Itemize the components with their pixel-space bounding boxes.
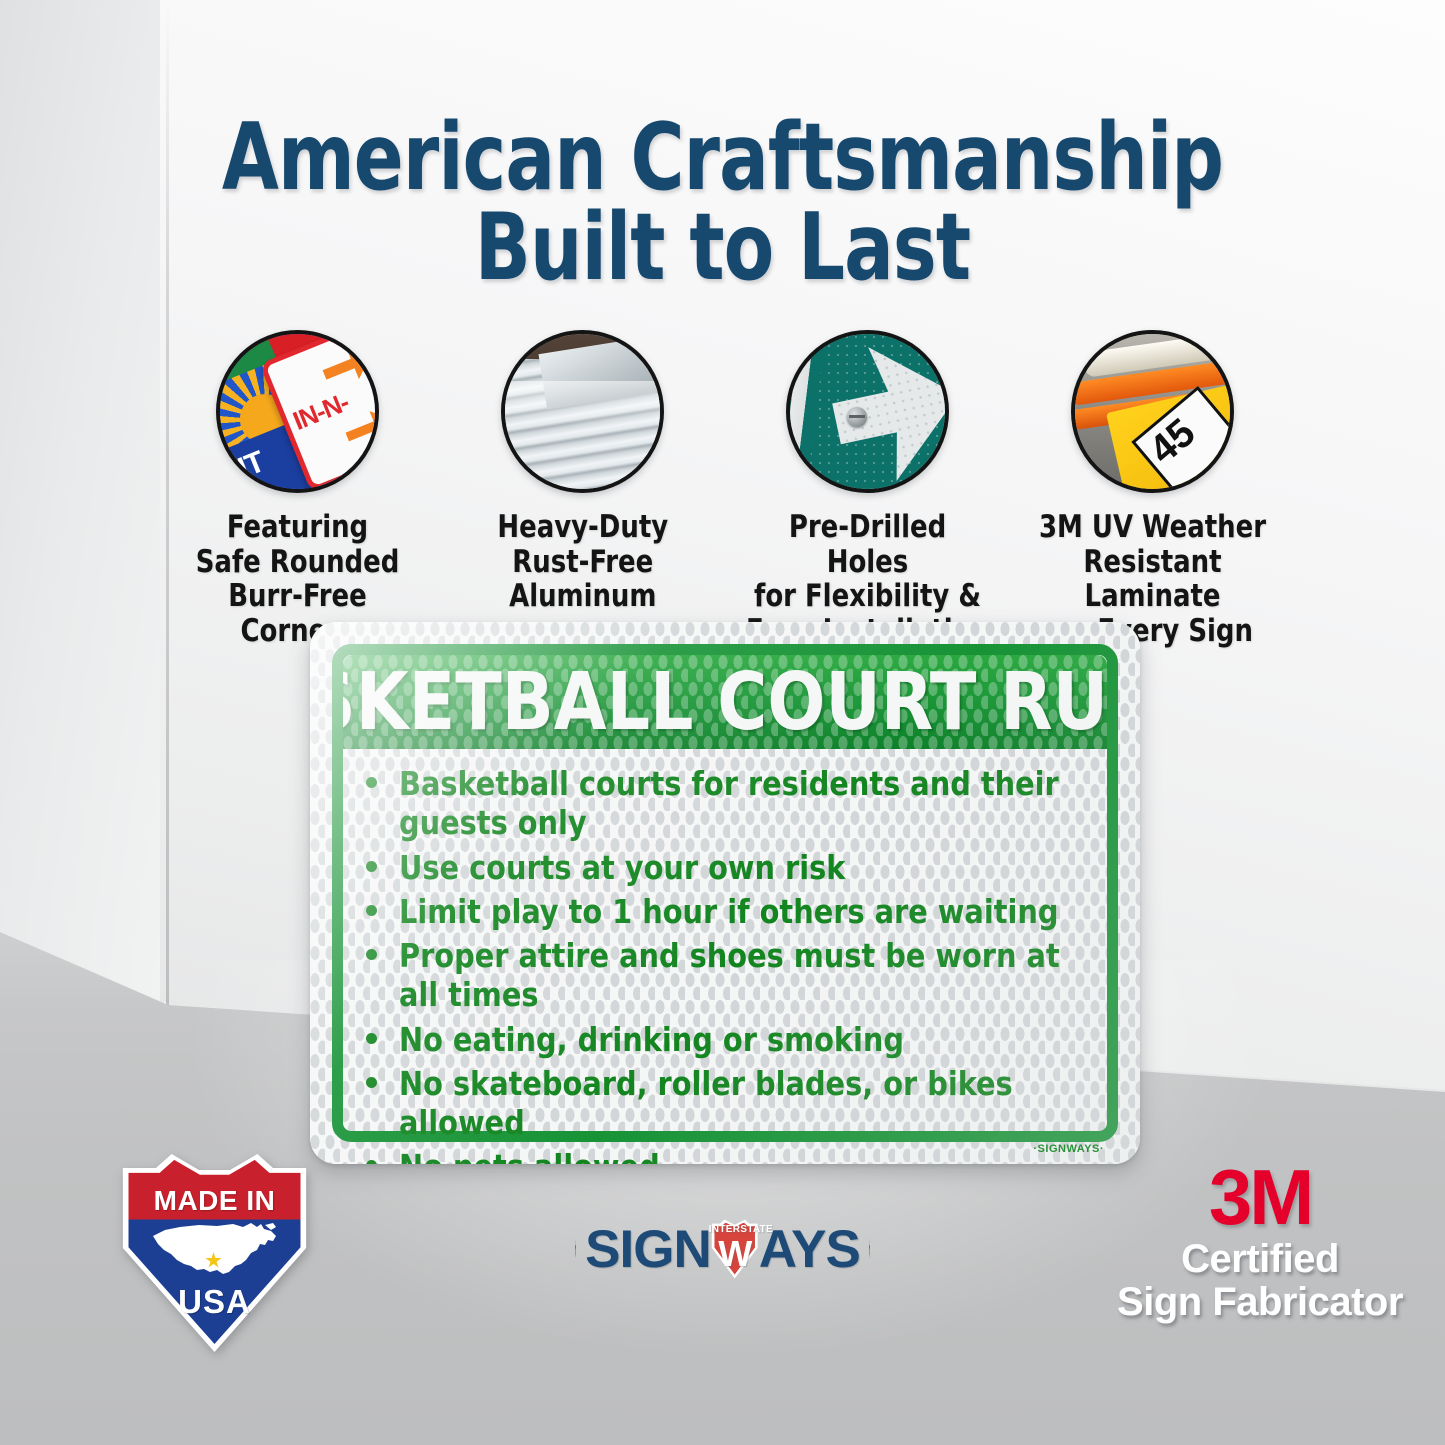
star-left-icon [575,1238,576,1261]
headline-line-2: Built to Last [87,202,1359,292]
product-sign: BASKETBALL COURT RULES Basketball courts… [310,622,1140,1164]
feature-label: Heavy-Duty Rust-Free Aluminum [497,510,668,614]
feature-item-pre-drilled-holes: Pre-Drilled Holes for Flexibility & Easy… [735,330,1000,649]
3m-certified-line-1: Certified [1110,1238,1410,1281]
icon-sign-text-1: IN-N- [289,386,354,436]
made-in-text: MADE IN [117,1185,312,1217]
usa-map-icon [147,1220,283,1282]
star-right-icon [869,1238,870,1261]
made-in-usa-badge: MADE IN USA [117,1152,312,1352]
aluminum-sheets-icon [501,330,664,493]
colorful-signs-stack-icon: VSIT IN-N- [216,330,379,493]
3m-certified-badge: 3M Certified Sign Fabricator [1110,1160,1410,1330]
sign-sheen-overlay [310,622,1140,1164]
page-headline: American Craftsmanship Built to Last [87,112,1359,292]
3m-certified-line-2: Sign Fabricator [1110,1281,1410,1324]
signways-logo: SIGN INTERSTATE W AYS [575,1213,870,1285]
3m-logo-text: 3M [1110,1160,1410,1234]
signways-watermark: ·SIGNWAYS· [1033,1143,1104,1155]
logo-suffix: AYS [759,1223,860,1276]
feature-item-aluminum: Heavy-Duty Rust-Free Aluminum [450,330,715,614]
product-marketing-scene: American Craftsmanship Built to Last VSI… [0,0,1445,1445]
feature-item-rounded-corners: VSIT IN-N- Featuring Safe Rounded Burr-F… [165,330,430,649]
feature-highlights-row: VSIT IN-N- Featuring Safe Rounded Burr-F… [165,330,1285,600]
pre-drilled-hole-screw-icon [786,330,949,493]
laminate-rolls-icon: 45 [1071,330,1234,493]
shield-w-letter: W [709,1236,761,1272]
feature-item-uv-laminate: 45 3M UV Weather Resistant Laminate on E… [1020,330,1285,649]
logo-prefix: SIGN [585,1223,711,1276]
usa-text: USA [117,1283,312,1321]
interstate-shield-icon: INTERSTATE W [709,1220,761,1279]
